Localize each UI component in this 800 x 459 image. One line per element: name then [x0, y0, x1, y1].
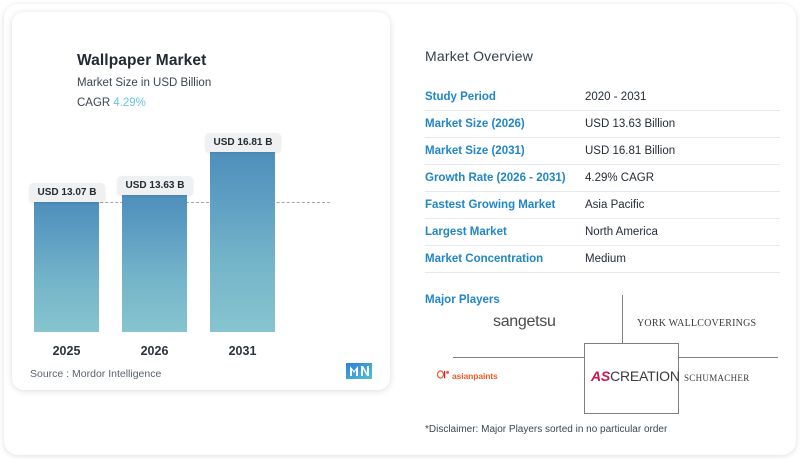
logo-as-creation: ASCREATION	[591, 368, 680, 384]
table-row: Market Size (2026) USD 13.63 Billion	[425, 111, 780, 138]
logo-york-wallcoverings: YORK WALLCOVERINGS	[637, 318, 756, 329]
major-players-diagram: sangetsu YORK WALLCOVERINGS asianpaints …	[425, 287, 780, 412]
row-label: Growth Rate (2026 - 2031)	[425, 165, 585, 192]
bar-value-label-2031: USD 16.81 B	[206, 133, 281, 152]
market-overview-panel: Market Overview Study Period 2020 - 2031…	[410, 12, 782, 447]
source-text: Source : Mordor Intelligence	[30, 368, 161, 380]
reference-dashed-line	[80, 202, 330, 203]
row-label: Market Size (2031)	[425, 138, 585, 165]
disclaimer-text: *Disclaimer: Major Players sorted in no …	[425, 424, 667, 435]
table-row: Fastest Growing Market Asia Pacific	[425, 192, 780, 219]
row-label: Study Period	[425, 84, 585, 111]
overview-table: Study Period 2020 - 2031 Market Size (20…	[425, 84, 780, 273]
table-row: Study Period 2020 - 2031	[425, 84, 780, 111]
row-label: Largest Market	[425, 219, 585, 246]
logo-sangetsu: sangetsu	[493, 313, 556, 331]
mordor-intelligence-logo-icon	[346, 363, 372, 384]
overview-title: Market Overview	[425, 48, 533, 64]
logo-schumacher: SCHUMACHER	[684, 373, 750, 383]
row-label: Market Size (2026)	[425, 111, 585, 138]
asianpaints-wordmark: asianpaints	[452, 371, 498, 381]
bar-2025[interactable]	[34, 202, 99, 332]
table-row: Market Concentration Medium	[425, 246, 780, 273]
table-row: Market Size (2031) USD 16.81 Billion	[425, 138, 780, 165]
as-wordmark: AS	[591, 368, 610, 384]
x-axis-tick-2026: 2026	[122, 344, 187, 358]
bar-value-label-2025: USD 13.07 B	[30, 183, 105, 202]
asianpaints-mark-icon	[437, 370, 450, 381]
source-row: Source : Mordor Intelligence	[30, 363, 372, 384]
row-value: 4.29% CAGR	[585, 165, 780, 192]
bar-value-label-2026: USD 13.63 B	[118, 176, 193, 195]
table-row: Largest Market North America	[425, 219, 780, 246]
row-value: Asia Pacific	[585, 192, 780, 219]
source-label: Source :	[30, 368, 69, 380]
row-value: North America	[585, 219, 780, 246]
infographic-root: Wallpaper Market Market Size in USD Bill…	[0, 0, 800, 459]
row-label: Fastest Growing Market	[425, 192, 585, 219]
row-value: USD 13.63 Billion	[585, 111, 780, 138]
x-axis-tick-2031: 2031	[210, 344, 275, 358]
table-row: Growth Rate (2026 - 2031) 4.29% CAGR	[425, 165, 780, 192]
x-axis-tick-2025: 2025	[34, 344, 99, 358]
source-name: Mordor Intelligence	[72, 368, 161, 380]
row-label: Market Concentration	[425, 246, 585, 273]
logo-asianpaints: asianpaints	[437, 370, 498, 381]
row-value: Medium	[585, 246, 780, 273]
creation-wordmark: CREATION	[610, 368, 680, 384]
row-value: USD 16.81 Billion	[585, 138, 780, 165]
bar-2026[interactable]	[122, 195, 187, 332]
bar-2031[interactable]	[210, 152, 275, 332]
row-value: 2020 - 2031	[585, 84, 780, 111]
chart-card: Wallpaper Market Market Size in USD Bill…	[12, 12, 390, 390]
plot-area: USD 13.07 B USD 13.63 B USD 16.81 B 2025…	[12, 12, 390, 390]
